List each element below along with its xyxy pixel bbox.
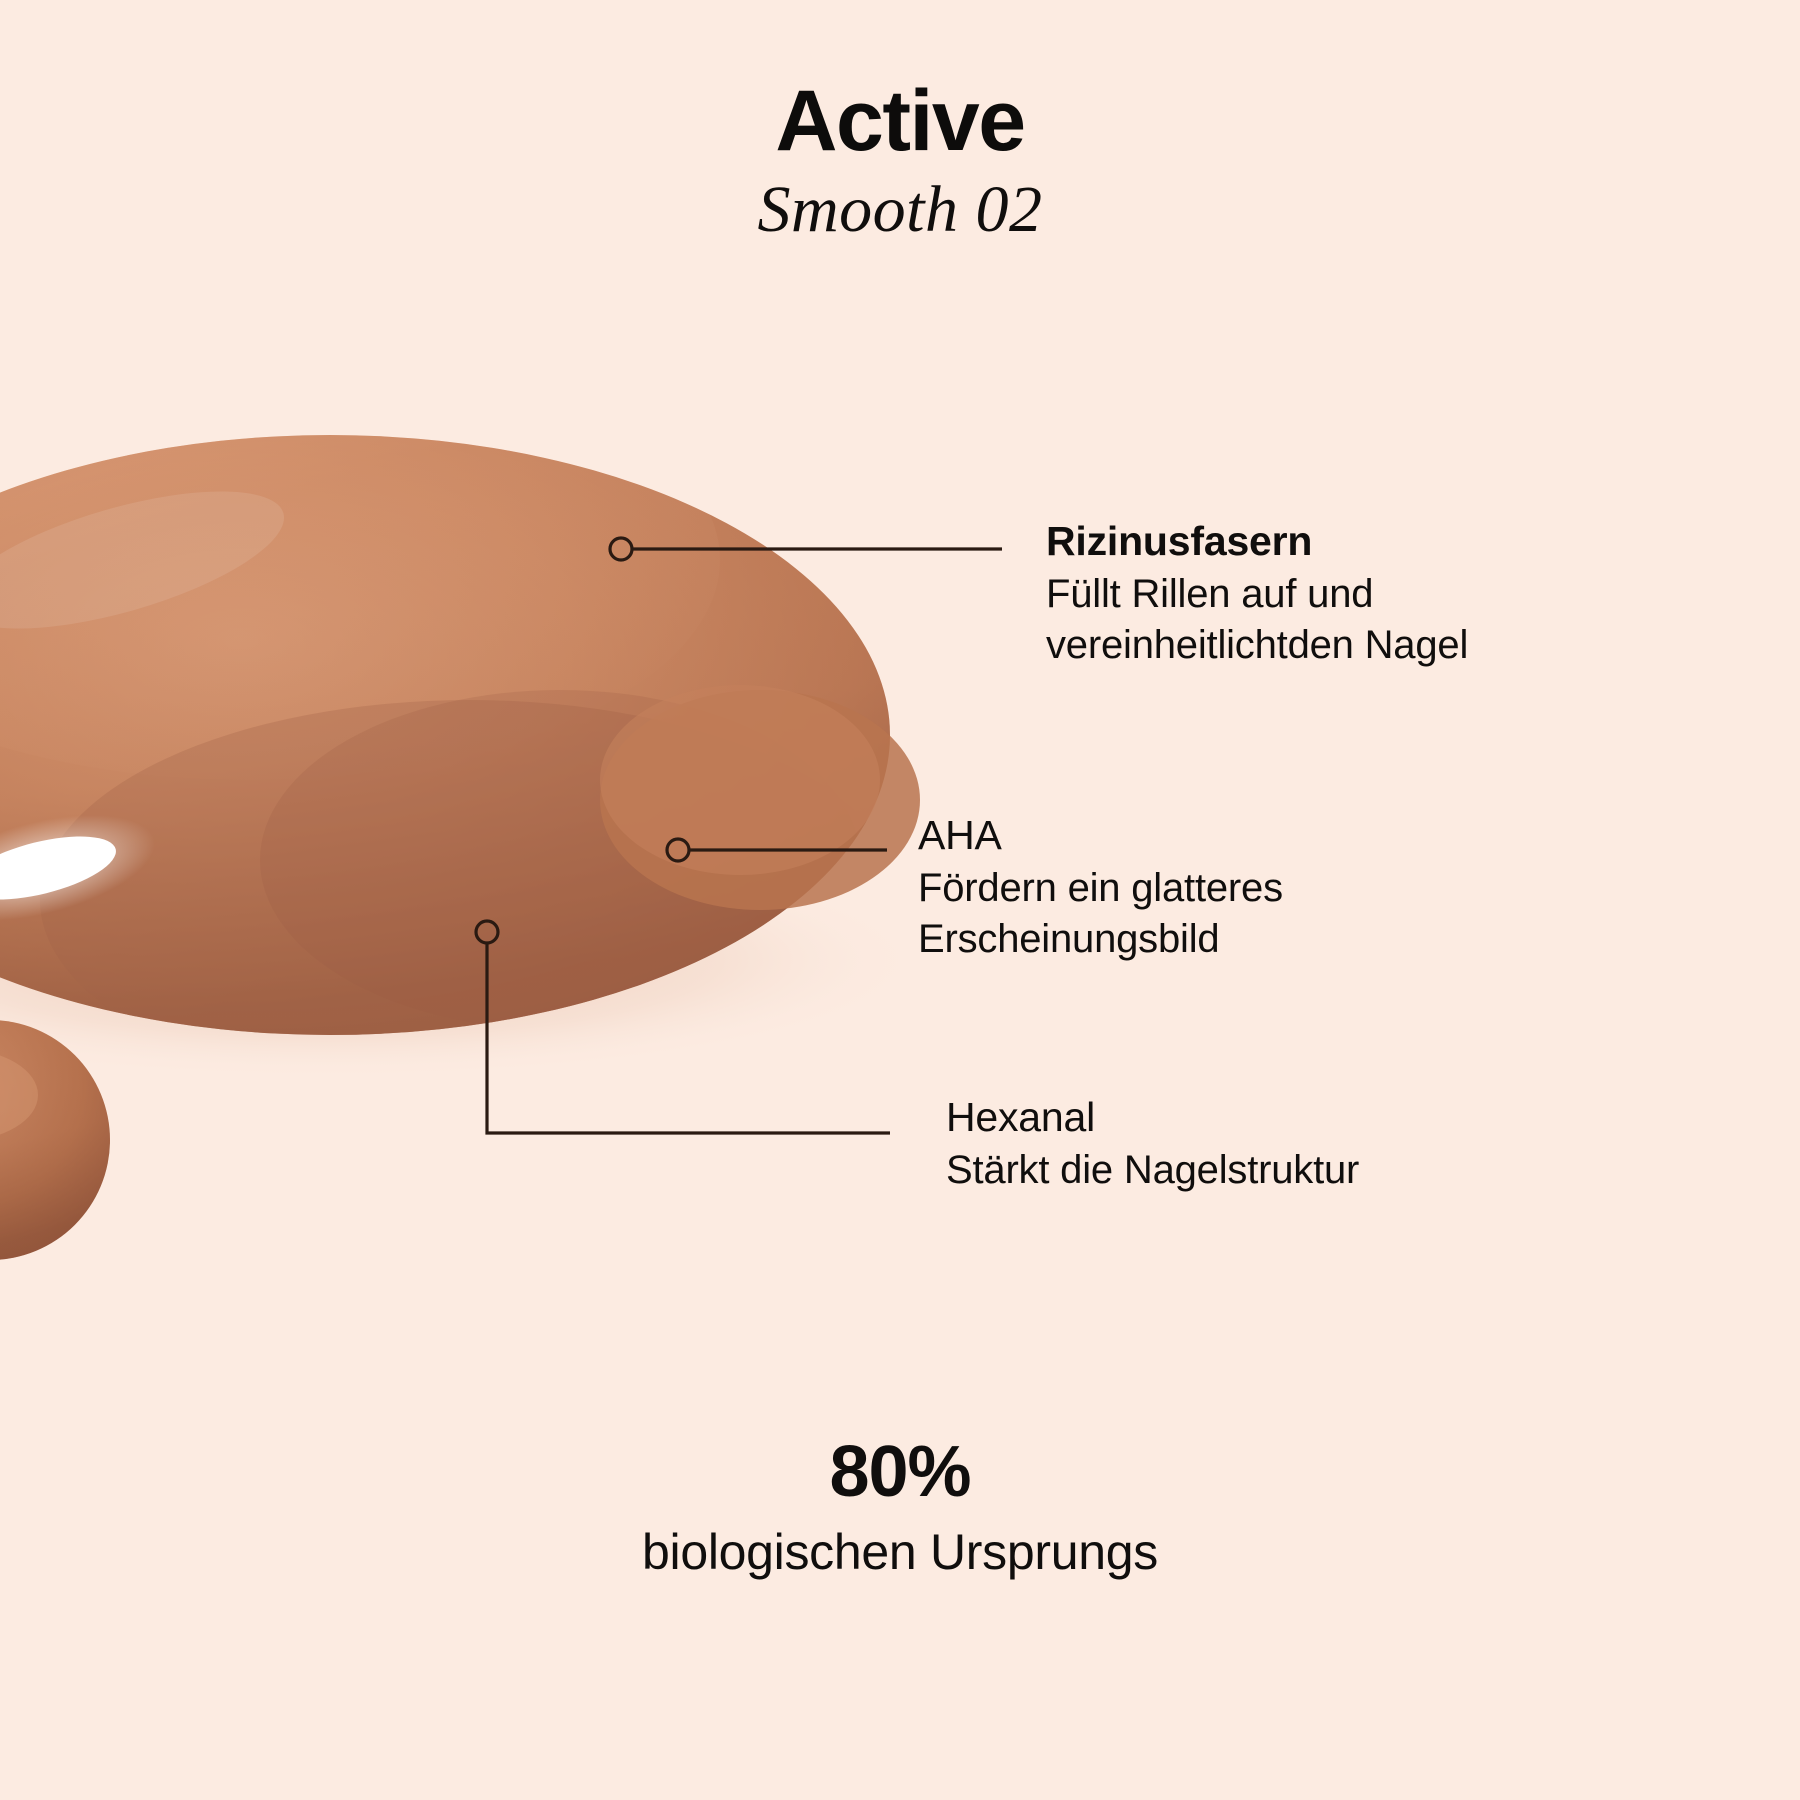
- specular-highlight: [0, 795, 166, 941]
- leader-dot-icon: [667, 839, 689, 861]
- callout-title: AHA: [918, 812, 1283, 859]
- page-title: Active: [0, 78, 1800, 164]
- callout-description: Stärkt die Nagelstruktur: [946, 1145, 1359, 1196]
- callout-hexanal: Hexanal Stärkt die Nagelstruktur: [946, 1094, 1359, 1196]
- leader-dot-icon: [476, 921, 498, 943]
- page-subtitle: Smooth 02: [0, 174, 1800, 247]
- leader-dot-icon: [610, 538, 632, 560]
- leader-line-hexanal: [476, 921, 890, 1133]
- callout-description: Fördern ein glatteres Erscheinungsbild: [918, 863, 1283, 965]
- footer-stat-block: 80% biologischen Ursprungs: [0, 1436, 1800, 1582]
- header: Active Smooth 02: [0, 78, 1800, 247]
- leader-line-rizinusfasern: [610, 538, 1002, 560]
- leader-line-aha: [667, 839, 887, 861]
- stat-label: biologischen Ursprungs: [0, 1522, 1800, 1582]
- callout-title: Hexanal: [946, 1094, 1359, 1141]
- callout-description: Füllt Rillen auf und vereinheitlichtden …: [1046, 569, 1468, 671]
- secondary-drop: [0, 1020, 110, 1260]
- drop-shadow: [0, 840, 930, 1080]
- callout-aha: AHA Fördern ein glatteres Erscheinungsbi…: [918, 812, 1283, 964]
- product-ingredient-infographic: Active Smooth 02 Rizinusfasern Füllt Ril…: [0, 0, 1800, 1800]
- main-drop: [0, 340, 920, 1100]
- stat-value: 80%: [0, 1436, 1800, 1508]
- callout-rizinusfasern: Rizinusfasern Füllt Rillen auf und verei…: [1046, 518, 1468, 670]
- drop-lobe: [600, 690, 920, 910]
- callout-title: Rizinusfasern: [1046, 518, 1468, 565]
